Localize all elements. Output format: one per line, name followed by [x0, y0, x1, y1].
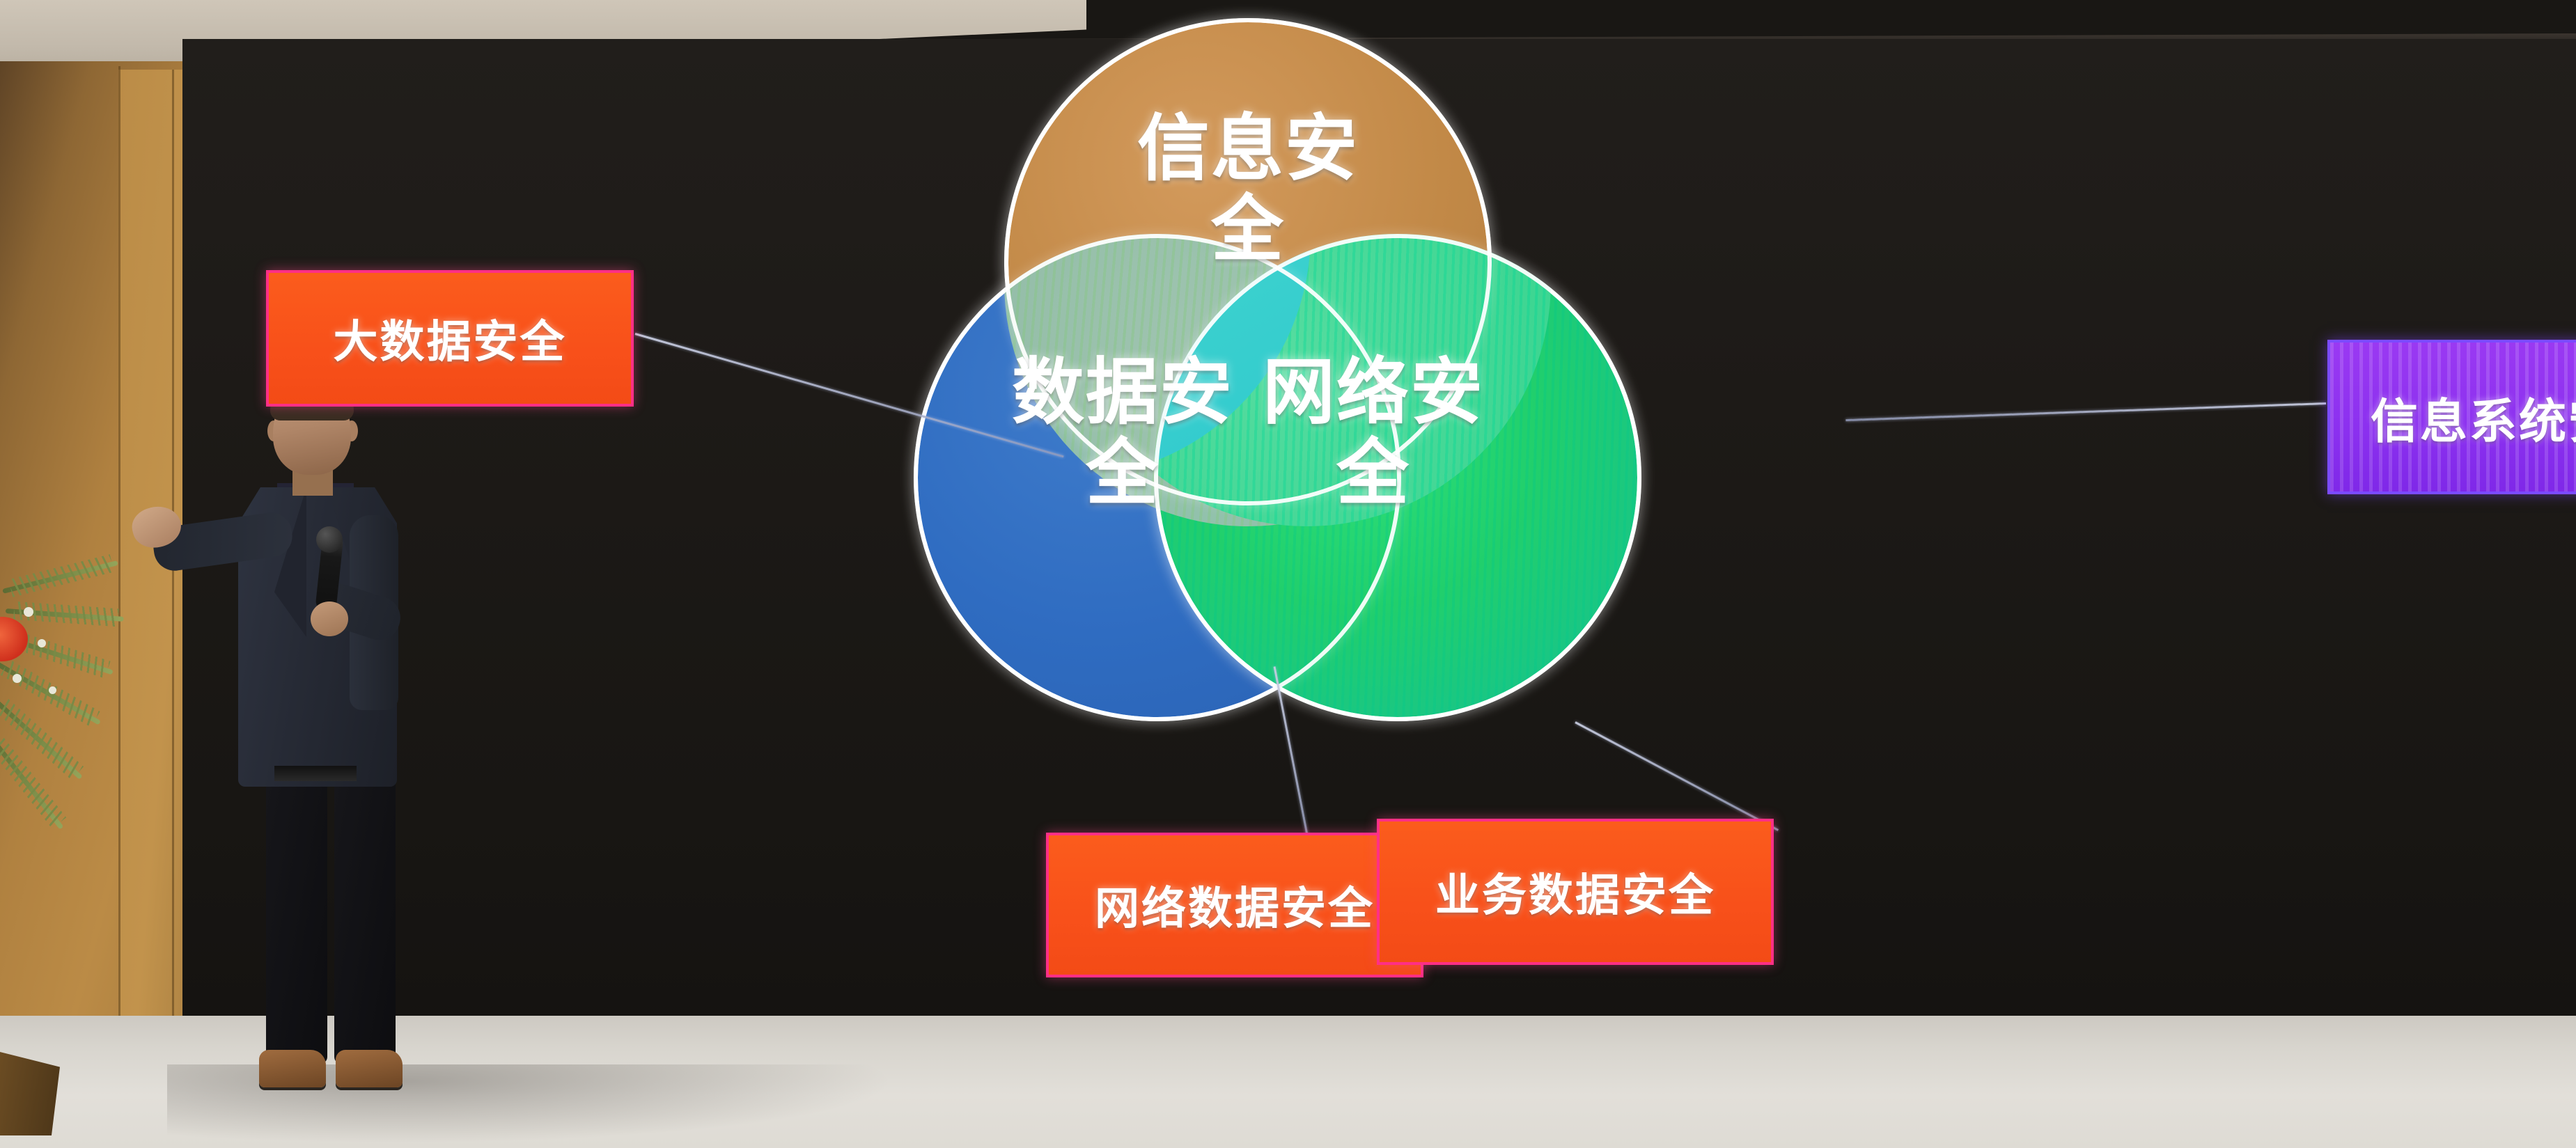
presentation-photo: 信息安全 数据安全 网络安全 大数据安全 信息系统安全 网络数据安全 业务数据安…: [0, 0, 2576, 1148]
presenter-hand-left: [311, 601, 348, 636]
callout-information-system-security[interactable]: 信息系统安全: [2327, 340, 2576, 494]
presenter: [202, 382, 432, 1119]
venn-label-network-security: 网络安全: [1227, 352, 1520, 514]
callout-network-data-security[interactable]: 网络数据安全: [1046, 833, 1423, 977]
flower-red: [0, 617, 28, 661]
callout-big-data-security[interactable]: 大数据安全: [266, 270, 634, 407]
venn-label-data-security: 数据安全: [976, 352, 1269, 514]
slide-content: 信息安全 数据安全 网络安全 大数据安全 信息系统安全 网络数据安全 业务数据安…: [182, 39, 2576, 1069]
presenter-leg-left: [266, 771, 327, 1064]
presenter-leg-right: [334, 771, 396, 1064]
presenter-shoe-right: [336, 1050, 403, 1087]
presenter-shoe-left: [259, 1050, 326, 1087]
wall-seam: [172, 70, 174, 1083]
flower-arrangement: [0, 550, 132, 842]
callout-business-data-security[interactable]: 业务数据安全: [1377, 819, 1774, 965]
venn-label-information-security: 信息安全: [1102, 109, 1394, 271]
microphone-head-icon: [316, 526, 343, 553]
presenter-belt: [274, 766, 357, 781]
